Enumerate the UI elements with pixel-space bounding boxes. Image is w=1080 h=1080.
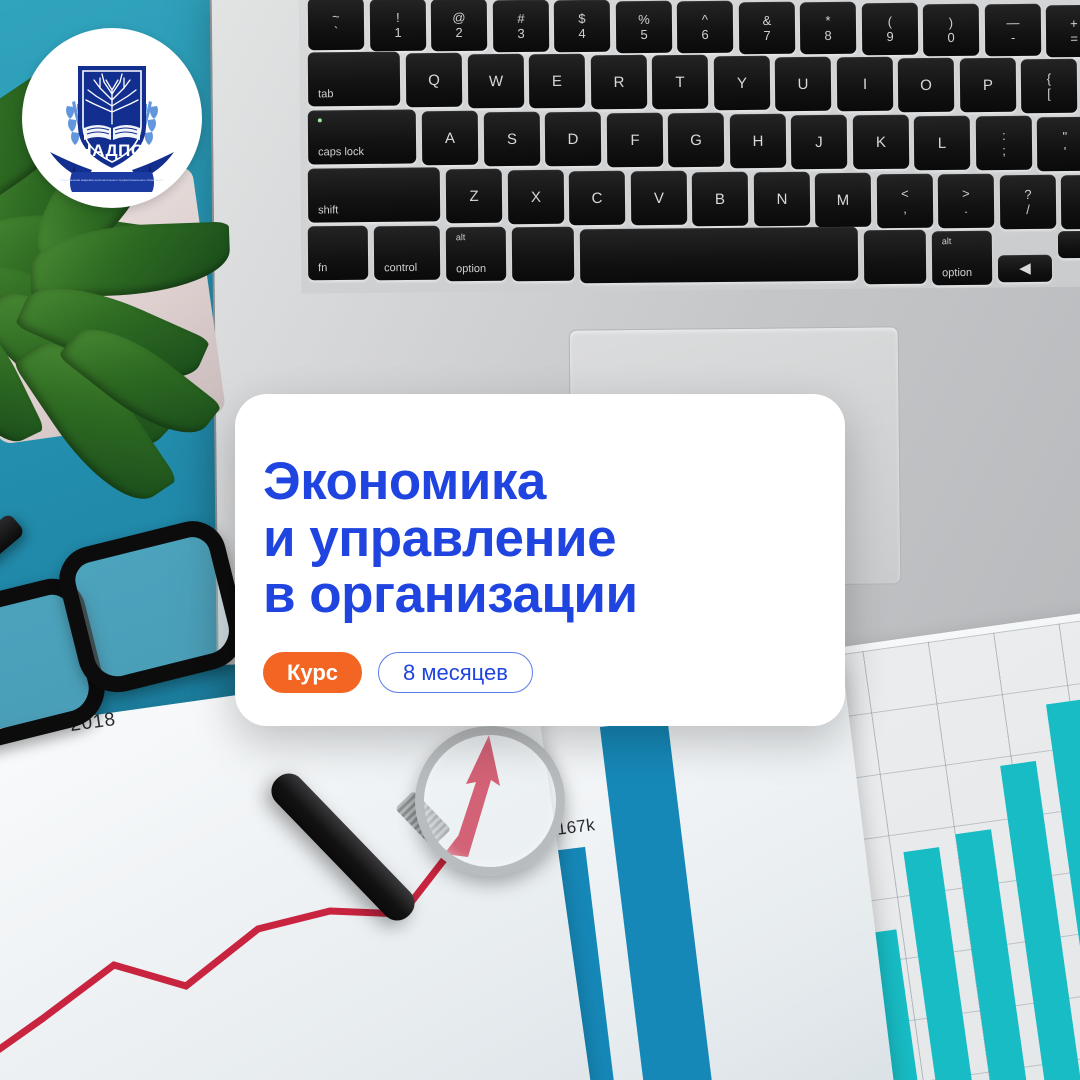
key-z[interactable]: Z (446, 169, 503, 224)
key-4[interactable]: $4 (554, 0, 610, 52)
key-q[interactable]: Q (406, 53, 463, 108)
nadpo-logo-icon: НАДПО Национальная академия дополнительн… (34, 40, 190, 196)
key-y[interactable]: Y (713, 56, 770, 111)
key-c[interactable]: C (569, 170, 626, 225)
key-option-right[interactable]: altoption (932, 230, 993, 285)
key-`[interactable]: ~` (308, 0, 364, 50)
key-t[interactable]: T (652, 55, 709, 110)
key-v[interactable]: V (630, 171, 687, 226)
logo-badge[interactable]: НАДПО Национальная академия дополнительн… (22, 28, 202, 208)
glasses-lens-right (52, 514, 253, 701)
key-h[interactable]: H (729, 114, 786, 169)
poster-canvas: ~`!1@2#3$4%5^6&7*8(9)0—-+= tabQWERTYUIOP… (0, 0, 1080, 1080)
key-p[interactable]: P (959, 58, 1016, 113)
key-7[interactable]: &7 (738, 2, 794, 55)
key-d[interactable]: D (545, 112, 602, 167)
key-6[interactable]: ^6 (677, 1, 733, 54)
key-3[interactable]: #3 (492, 0, 548, 52)
key-sym-2[interactable]: ?/ (999, 174, 1056, 229)
key-fn[interactable]: fn (308, 226, 369, 281)
key-l[interactable]: L (914, 116, 971, 171)
key-punct-0[interactable]: :; (975, 116, 1032, 171)
key-sym-0[interactable]: <, (876, 173, 933, 228)
key-8[interactable]: *8 (800, 2, 856, 55)
key-0[interactable]: )0 (923, 3, 979, 56)
key-f[interactable]: F (606, 113, 663, 168)
magnifier-lens (415, 726, 565, 876)
logo-shield-text: НАДПО (79, 141, 144, 160)
key-arrow-up[interactable] (1058, 231, 1080, 258)
key-shift-right[interactable] (1061, 175, 1080, 230)
key-j[interactable]: J (791, 114, 848, 169)
key-x[interactable]: X (507, 170, 564, 225)
key-tab[interactable]: tab (308, 52, 401, 107)
key-=[interactable]: += (1046, 4, 1080, 57)
key--[interactable]: —- (984, 4, 1040, 57)
key-sym-1[interactable]: >. (938, 174, 995, 229)
key-i[interactable]: I (836, 57, 893, 112)
key-command-left[interactable] (512, 227, 575, 282)
key-shift[interactable]: shift (308, 167, 441, 222)
chip-duration[interactable]: 8 месяцев (378, 652, 533, 693)
key-2[interactable]: @2 (431, 0, 487, 51)
key-w[interactable]: W (467, 53, 524, 108)
key-n[interactable]: N (753, 172, 810, 227)
key-b[interactable]: B (692, 171, 749, 226)
card-title: Экономика и управление в организации (263, 454, 845, 624)
key-g[interactable]: G (668, 113, 725, 168)
key-arrow-left[interactable]: ◀ (998, 255, 1052, 283)
key-m[interactable]: M (815, 173, 872, 228)
key-command-right[interactable] (864, 230, 927, 285)
key-1[interactable]: !1 (369, 0, 425, 51)
key-caps-lock[interactable]: caps lock (308, 109, 417, 164)
key-o[interactable]: O (898, 57, 955, 112)
key-e[interactable]: E (529, 54, 586, 109)
card-chips: Курс 8 месяцев (263, 652, 845, 693)
course-card: Экономика и управление в организации Кур… (235, 394, 845, 726)
key-r[interactable]: R (590, 54, 647, 109)
logo-ribbon-text: Национальная академия дополнительного пр… (60, 178, 164, 182)
key-k[interactable]: K (852, 115, 909, 170)
key-s[interactable]: S (483, 111, 540, 166)
key-control[interactable]: control (374, 226, 441, 281)
key-space[interactable] (580, 226, 859, 283)
key-9[interactable]: (9 (861, 3, 917, 56)
key-a[interactable]: A (422, 111, 479, 166)
key-bracket-left[interactable]: {[ (1021, 59, 1078, 114)
key-5[interactable]: %5 (615, 0, 671, 53)
key-u[interactable]: U (775, 56, 832, 111)
chip-course-type[interactable]: Курс (263, 652, 362, 693)
key-option-left[interactable]: altoption (446, 227, 507, 282)
key-punct-1[interactable]: "' (1037, 117, 1080, 172)
